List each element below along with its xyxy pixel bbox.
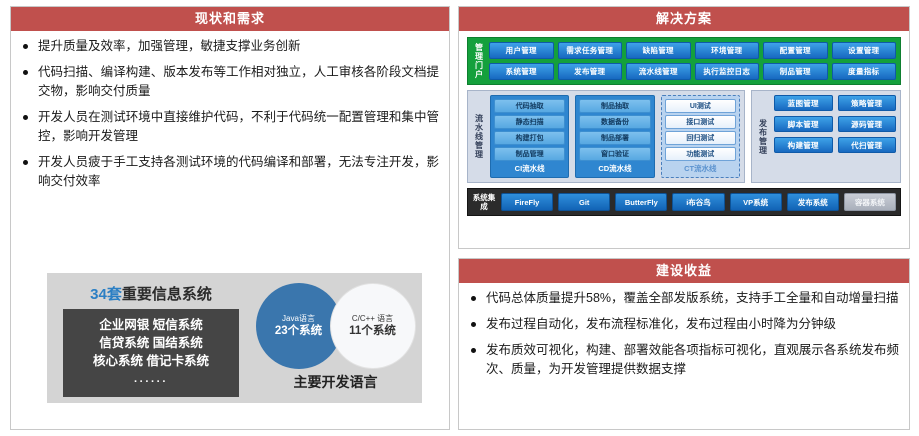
system-name-row: 信贷系统 国结系统 bbox=[99, 334, 202, 352]
pipeline-step[interactable]: 接口测试 bbox=[665, 115, 736, 129]
portal-button[interactable]: 需求任务管理 bbox=[558, 42, 623, 59]
current-state-bullet-list: 提升质量及效率，加强管理，敏捷支撑业务创新 代码扫描、编译构建、版本发布等工作相… bbox=[21, 37, 439, 191]
portal-button[interactable]: 系统管理 bbox=[489, 63, 554, 80]
release-button[interactable]: 构建管理 bbox=[774, 137, 833, 153]
pipeline-step[interactable]: 制品管理 bbox=[494, 147, 565, 161]
panel-benefits: 建设收益 代码总体质量提升58%，覆盖全部发版系统，支持手工全量和自动增量扫描 … bbox=[458, 258, 910, 430]
release-button[interactable]: 蓝图管理 bbox=[774, 95, 833, 111]
pipeline-step[interactable]: 代码抽取 bbox=[494, 99, 565, 113]
pipeline-column-footer: CT流水线 bbox=[665, 164, 736, 174]
venn-circle-cpp: C/C++ 语言 11个系统 bbox=[330, 283, 416, 369]
portal-button[interactable]: 环境管理 bbox=[695, 42, 760, 59]
panel-current-state-body: 提升质量及效率，加强管理，敏捷支撑业务创新 代码扫描、编译构建、版本发布等工作相… bbox=[11, 31, 449, 202]
venn-diagram: Java语言 23个系统 C/C++ 语言 11个系统 bbox=[256, 283, 416, 369]
list-item: 发布过程自动化，发布流程标准化，发布过程由小时降为分钟级 bbox=[469, 315, 899, 334]
system-name-row: 企业网银 短信系统 bbox=[99, 316, 202, 334]
pipeline-step[interactable]: 构建打包 bbox=[494, 131, 565, 145]
integration-button[interactable]: i布谷鸟 bbox=[672, 193, 724, 211]
list-item: 开发人员在测试环境中直接维护代码，不利于代码统一配置管理和集中管控，影响开发管理 bbox=[21, 108, 439, 146]
portal-button[interactable]: 发布管理 bbox=[558, 63, 623, 80]
pipeline-step[interactable]: UI测试 bbox=[665, 99, 736, 113]
portal-button[interactable]: 制品管理 bbox=[763, 63, 828, 80]
portal-button[interactable]: 缺陷管理 bbox=[626, 42, 691, 59]
important-systems-title: 34套重要信息系统 bbox=[90, 283, 212, 304]
ellipsis-text: ······ bbox=[134, 373, 168, 391]
slide-canvas: 现状和需求 提升质量及效率，加强管理，敏捷支撑业务创新 代码扫描、编译构建、版本… bbox=[0, 0, 919, 436]
release-button-grid: 蓝图管理 策略管理 脚本管理 源码管理 构建管理 代扫管理 bbox=[774, 95, 896, 178]
management-portal-section: 管理门户 用户管理 需求任务管理 缺陷管理 环境管理 配置管理 设置管理 系统管… bbox=[467, 37, 901, 85]
pipeline-column-cd: 制品抽取 数据备份 制品部署 窗口验证 CD流水线 bbox=[575, 95, 654, 178]
system-integration-items: FireFly Git ButterFly i布谷鸟 VP系统 发布系统 容器系… bbox=[501, 193, 896, 211]
pipeline-step[interactable]: 窗口验证 bbox=[579, 147, 650, 161]
pipeline-columns: 代码抽取 静态扫描 构建打包 制品管理 CI流水线 制品抽取 数据备份 制品部署… bbox=[490, 95, 740, 178]
portal-button[interactable]: 用户管理 bbox=[489, 42, 554, 59]
pipeline-column-ct: UI测试 接口测试 回归测试 功能测试 CT流水线 bbox=[661, 95, 740, 178]
portal-button[interactable]: 流水线管理 bbox=[626, 63, 691, 80]
panel-current-state-title: 现状和需求 bbox=[11, 7, 449, 31]
portal-button[interactable]: 执行监控日志 bbox=[695, 63, 760, 80]
pipeline-column-footer: CD流水线 bbox=[579, 164, 650, 174]
pipeline-management-section: 流水线管理 代码抽取 静态扫描 构建打包 制品管理 CI流水线 制品抽取 数据备… bbox=[467, 90, 745, 183]
list-item: 代码扫描、编译构建、版本发布等工作相对独立，人工审核各阶段文档提交物，影响交付质… bbox=[21, 63, 439, 101]
pipeline-management-label: 流水线管理 bbox=[472, 95, 485, 178]
panel-solution: 解决方案 管理门户 用户管理 需求任务管理 缺陷管理 环境管理 配置管理 设置管… bbox=[458, 6, 910, 249]
panel-solution-title: 解决方案 bbox=[459, 7, 909, 31]
pipeline-step[interactable]: 功能测试 bbox=[665, 147, 736, 161]
pipeline-step[interactable]: 制品部署 bbox=[579, 131, 650, 145]
solution-architecture-diagram: 管理门户 用户管理 需求任务管理 缺陷管理 环境管理 配置管理 设置管理 系统管… bbox=[459, 31, 909, 222]
pipeline-step[interactable]: 静态扫描 bbox=[494, 115, 565, 129]
portal-button[interactable]: 度量指标 bbox=[832, 63, 897, 80]
pipeline-step[interactable]: 数据备份 bbox=[579, 115, 650, 129]
venn-cpp-label: C/C++ 语言 bbox=[352, 313, 393, 324]
important-systems-block: 34套重要信息系统 企业网银 短信系统 信贷系统 国结系统 核心系统 借记卡系统… bbox=[53, 279, 249, 397]
pipeline-step[interactable]: 制品抽取 bbox=[579, 99, 650, 113]
important-systems-title-rest: 重要信息系统 bbox=[122, 286, 212, 303]
list-item: 发布质效可视化，构建、部署效能各项指标可视化，直观展示各系统发布频次、质量，为开… bbox=[469, 341, 899, 379]
pipeline-release-row: 流水线管理 代码抽取 静态扫描 构建打包 制品管理 CI流水线 制品抽取 数据备… bbox=[467, 90, 901, 183]
integration-button[interactable]: Git bbox=[558, 193, 610, 211]
integration-button[interactable]: FireFly bbox=[501, 193, 553, 211]
release-management-section: 发布管理 蓝图管理 策略管理 脚本管理 源码管理 构建管理 代扫管理 bbox=[751, 90, 901, 183]
pipeline-column-ci: 代码抽取 静态扫描 构建打包 制品管理 CI流水线 bbox=[490, 95, 569, 178]
release-management-label: 发布管理 bbox=[756, 95, 769, 178]
portal-button[interactable]: 设置管理 bbox=[832, 42, 897, 59]
pipeline-step[interactable]: 回归测试 bbox=[665, 131, 736, 145]
venn-circle-java: Java语言 23个系统 bbox=[256, 283, 342, 369]
system-count: 34套 bbox=[90, 286, 122, 303]
list-item: 提升质量及效率，加强管理，敏捷支撑业务创新 bbox=[21, 37, 439, 56]
management-portal-label: 管理门户 bbox=[472, 42, 485, 80]
stats-graphic: 34套重要信息系统 企业网银 短信系统 信贷系统 国结系统 核心系统 借记卡系统… bbox=[47, 273, 422, 403]
list-item: 代码总体质量提升58%，覆盖全部发版系统，支持手工全量和自动增量扫描 bbox=[469, 289, 899, 308]
system-integration-label: 系统集成 bbox=[472, 193, 496, 211]
integration-button[interactable]: VP系统 bbox=[730, 193, 782, 211]
benefits-bullet-list: 代码总体质量提升58%，覆盖全部发版系统，支持手工全量和自动增量扫描 发布过程自… bbox=[469, 289, 899, 379]
venn-cpp-value: 11个系统 bbox=[349, 324, 396, 339]
system-name-box: 企业网银 短信系统 信贷系统 国结系统 核心系统 借记卡系统 ······ bbox=[63, 309, 239, 397]
integration-button[interactable]: ButterFly bbox=[615, 193, 667, 211]
venn-java-value: 23个系统 bbox=[275, 324, 322, 339]
panel-benefits-body: 代码总体质量提升58%，覆盖全部发版系统，支持手工全量和自动增量扫描 发布过程自… bbox=[459, 283, 909, 390]
venn-caption: 主要开发语言 bbox=[294, 372, 378, 392]
panel-current-state: 现状和需求 提升质量及效率，加强管理，敏捷支撑业务创新 代码扫描、编译构建、版本… bbox=[10, 6, 450, 430]
integration-button[interactable]: 容器系统 bbox=[844, 193, 896, 211]
portal-button[interactable]: 配置管理 bbox=[763, 42, 828, 59]
system-integration-section: 系统集成 FireFly Git ButterFly i布谷鸟 VP系统 发布系… bbox=[467, 188, 901, 216]
pipeline-column-footer: CI流水线 bbox=[494, 164, 565, 174]
release-button[interactable]: 脚本管理 bbox=[774, 116, 833, 132]
release-button[interactable]: 源码管理 bbox=[838, 116, 897, 132]
system-name-row: 核心系统 借记卡系统 bbox=[93, 352, 209, 370]
panel-benefits-title: 建设收益 bbox=[459, 259, 909, 283]
language-venn-block: Java语言 23个系统 C/C++ 语言 11个系统 主要开发语言 bbox=[255, 279, 416, 397]
release-button[interactable]: 策略管理 bbox=[838, 95, 897, 111]
management-portal-button-grid: 用户管理 需求任务管理 缺陷管理 环境管理 配置管理 设置管理 系统管理 发布管… bbox=[489, 42, 896, 80]
integration-button[interactable]: 发布系统 bbox=[787, 193, 839, 211]
venn-java-label: Java语言 bbox=[282, 313, 315, 324]
list-item: 开发人员疲于手工支持各测试环境的代码编译和部署，无法专注开发，影响交付效率 bbox=[21, 153, 439, 191]
release-button[interactable]: 代扫管理 bbox=[838, 137, 897, 153]
